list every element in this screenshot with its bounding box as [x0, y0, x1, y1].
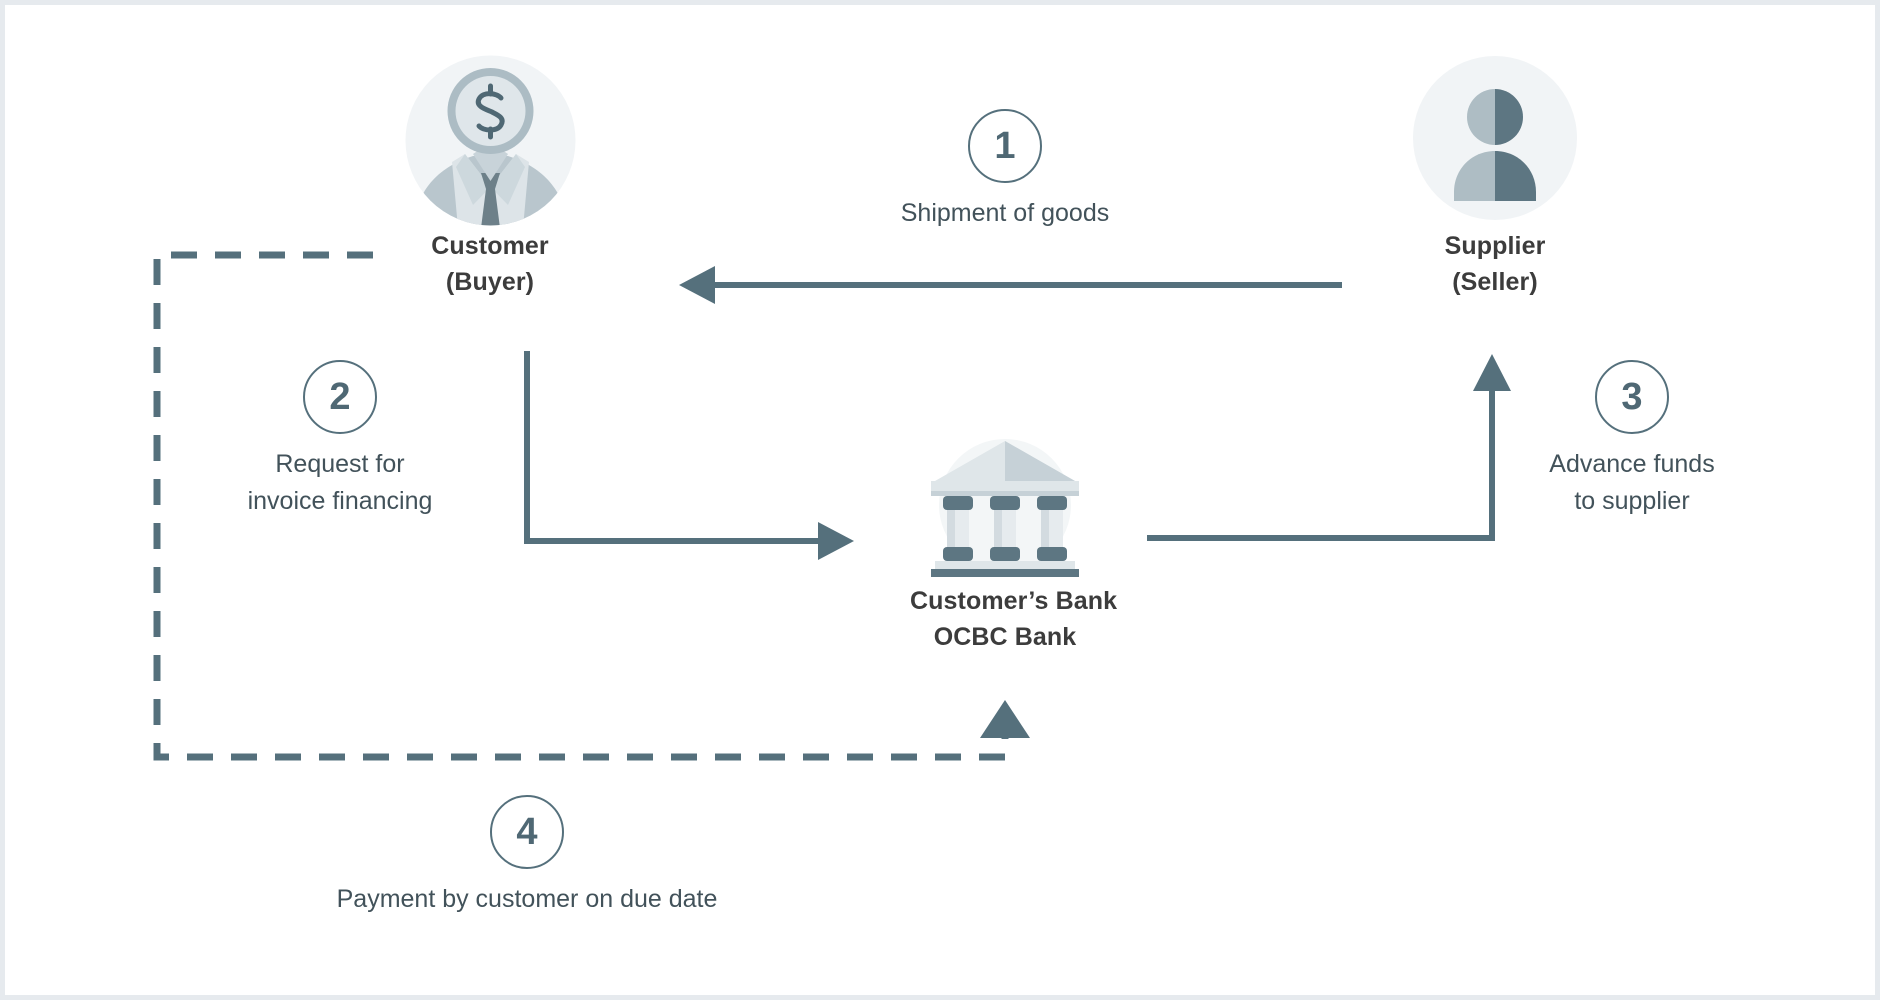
- arrowhead-step-2: [818, 522, 854, 560]
- step-2-text: Request for invoice financing: [205, 446, 475, 520]
- node-supplier-label-line2: (Seller): [1405, 264, 1585, 300]
- node-bank-label-line1: Customer’s Bank: [910, 583, 1100, 619]
- step-1-number: 1: [968, 109, 1042, 183]
- connector-step-3-line: [1147, 383, 1492, 538]
- node-supplier-label-line1: Supplier: [1405, 228, 1585, 264]
- connector-step-3: [1147, 354, 1511, 538]
- step-3-number: 3: [1595, 360, 1669, 434]
- step-marker-2[interactable]: 2 Request for invoice financing: [205, 360, 475, 520]
- connector-step-1: [679, 266, 1342, 304]
- step-4-text: Payment by customer on due date: [307, 881, 747, 918]
- arrowhead-step-1: [679, 266, 715, 304]
- node-customer[interactable]: Customer (Buyer): [400, 53, 580, 300]
- node-customer-label-line2: (Buyer): [400, 264, 580, 300]
- step-marker-1[interactable]: 1 Shipment of goods: [835, 109, 1175, 232]
- step-1-text: Shipment of goods: [835, 195, 1175, 232]
- step-marker-4[interactable]: 4 Payment by customer on due date: [307, 795, 747, 918]
- businessman-dollar-icon: [403, 53, 578, 228]
- node-bank-label-line2: OCBC Bank: [910, 619, 1100, 655]
- node-bank[interactable]: Customer’s Bank OCBC Bank: [910, 433, 1100, 655]
- connector-step-2-line: [527, 351, 828, 541]
- person-silhouette-icon: [1410, 53, 1580, 228]
- connector-step-2: [527, 351, 854, 560]
- diagram-canvas: Customer (Buyer) Supplier (Seller): [0, 0, 1880, 1000]
- step-4-number: 4: [490, 795, 564, 869]
- node-supplier[interactable]: Supplier (Seller): [1405, 53, 1585, 300]
- step-3-text: Advance funds to supplier: [1497, 446, 1767, 520]
- bank-building-icon: [925, 433, 1085, 583]
- node-customer-label-line1: Customer: [400, 228, 580, 264]
- arrowhead-step-4: [980, 700, 1030, 738]
- step-marker-3[interactable]: 3 Advance funds to supplier: [1497, 360, 1767, 520]
- step-2-number: 2: [303, 360, 377, 434]
